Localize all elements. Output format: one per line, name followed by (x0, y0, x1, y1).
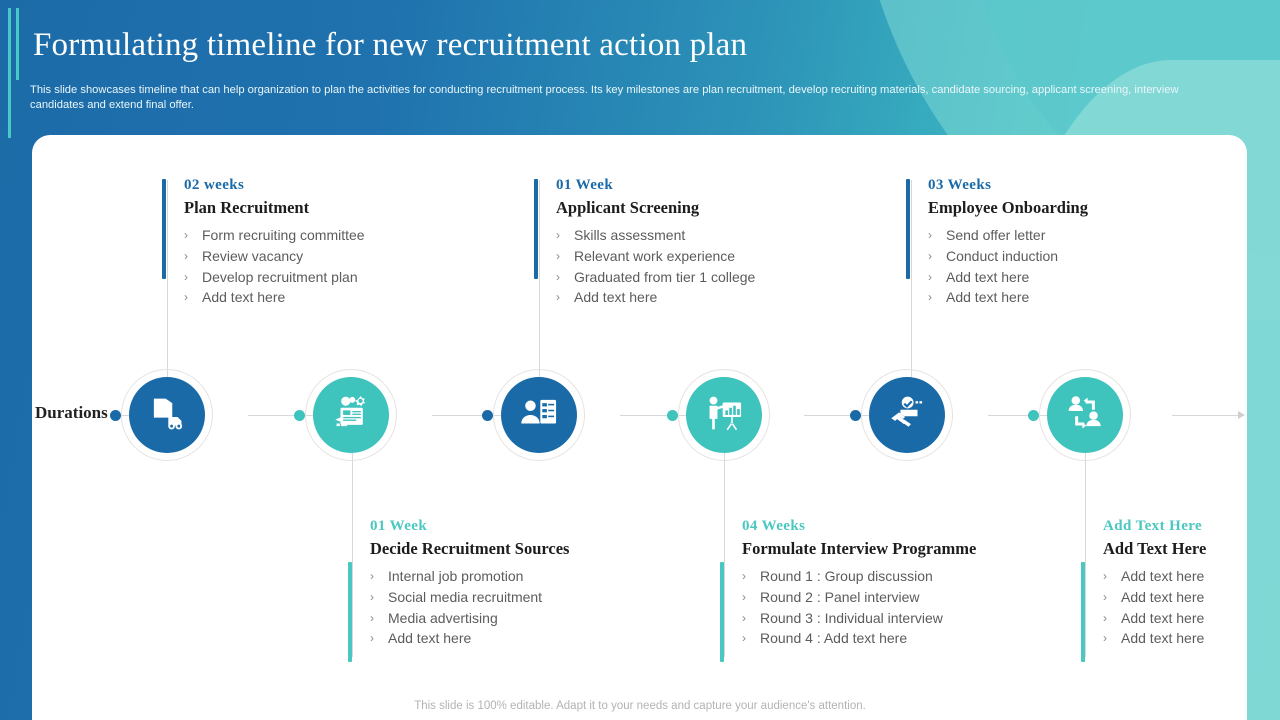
duration-label: 02 weeks (184, 177, 524, 194)
accent-bar (906, 179, 910, 279)
chevron-right-icon: › (928, 267, 946, 288)
chevron-right-icon: › (928, 287, 946, 308)
list-item-label: Review vacancy (202, 246, 303, 267)
chevron-right-icon: › (742, 566, 760, 587)
duration-label: Add Text Here (1103, 518, 1247, 535)
milestone-heading: Employee Onboarding (928, 198, 1247, 218)
handshake-approved-icon (886, 392, 928, 439)
chevron-right-icon: › (742, 608, 760, 629)
duration-label: 01 Week (556, 177, 896, 194)
node-dot (294, 410, 305, 421)
chevron-right-icon: › (556, 225, 574, 246)
list-item-label: Conduct induction (946, 246, 1058, 267)
node-dot (667, 410, 678, 421)
candidate-checklist-icon (518, 392, 560, 439)
page-title: Formulating timeline for new recruitment… (33, 27, 747, 64)
page-subtitle: This slide showcases timeline that can h… (30, 83, 1220, 112)
settings-document-icon (330, 392, 372, 439)
timeline-node-2[interactable] (305, 369, 397, 461)
accent-bar (720, 562, 724, 662)
list-item-label: Media advertising (388, 608, 498, 629)
chevron-right-icon: › (184, 267, 202, 288)
list-item-label: Develop recruitment plan (202, 267, 358, 288)
list-item: ›Internal job promotion (370, 566, 730, 587)
duration-label: 03 Weeks (928, 177, 1247, 194)
accent-bar (162, 179, 166, 279)
list-item: ›Social media recruitment (370, 587, 730, 608)
list-item: ›Add text here (928, 287, 1247, 308)
milestone-block-4: 04 Weeks Formulate Interview Programme ›… (720, 518, 1102, 649)
list-item: ›Review vacancy (184, 246, 524, 267)
chevron-right-icon: › (928, 225, 946, 246)
node-disc (129, 377, 205, 453)
chevron-right-icon: › (928, 246, 946, 267)
chevron-right-icon: › (1103, 587, 1121, 608)
list-item-label: Social media recruitment (388, 587, 542, 608)
node-disc (501, 377, 577, 453)
list-item: ›Add text here (1103, 587, 1247, 608)
timeline-axis: Durations (32, 135, 1247, 720)
timeline-node-3[interactable] (493, 369, 585, 461)
milestone-heading: Formulate Interview Programme (742, 539, 1102, 559)
chevron-right-icon: › (556, 267, 574, 288)
milestone-item-list: ›Skills assessment ›Relevant work experi… (556, 225, 896, 308)
presentation-board-icon (703, 392, 745, 439)
node-dot (850, 410, 861, 421)
chevron-right-icon: › (1103, 628, 1121, 649)
footer-note: This slide is 100% editable. Adapt it to… (0, 700, 1280, 712)
list-item-label: Add text here (1121, 608, 1204, 629)
list-item: ›Round 2 : Panel interview (742, 587, 1102, 608)
milestone-item-list: ›Round 1 : Group discussion ›Round 2 : P… (742, 566, 1102, 649)
node-dot (482, 410, 493, 421)
milestone-block-1: 02 weeks Plan Recruitment ›Form recruiti… (162, 177, 524, 308)
timeline-node-5[interactable] (861, 369, 953, 461)
list-item: ›Form recruiting committee (184, 225, 524, 246)
list-item: ›Add text here (1103, 628, 1247, 649)
list-item: ›Add text here (1103, 608, 1247, 629)
axis-label-durations: Durations (35, 403, 108, 423)
duration-label: 04 Weeks (742, 518, 1102, 535)
accent-bar (534, 179, 538, 279)
timeline-node-4[interactable] (678, 369, 770, 461)
list-item-label: Graduated from tier 1 college (574, 267, 755, 288)
node-disc (869, 377, 945, 453)
list-item-label: Add text here (946, 287, 1029, 308)
milestone-item-list: ›Internal job promotion ›Social media re… (370, 566, 730, 649)
list-item: ›Send offer letter (928, 225, 1247, 246)
milestone-block-6: Add Text Here Add Text Here ›Add text he… (1081, 518, 1247, 649)
chevron-right-icon: › (556, 246, 574, 267)
list-item: ›Relevant work experience (556, 246, 896, 267)
milestone-heading: Applicant Screening (556, 198, 896, 218)
chevron-right-icon: › (1103, 566, 1121, 587)
accent-bar (1081, 562, 1085, 662)
list-item-label: Add text here (946, 267, 1029, 288)
node-disc (1047, 377, 1123, 453)
chevron-right-icon: › (370, 628, 388, 649)
list-item: ›Add text here (1103, 566, 1247, 587)
accent-bar (348, 562, 352, 662)
list-item: ›Media advertising (370, 608, 730, 629)
chevron-right-icon: › (370, 608, 388, 629)
list-item: ›Add text here (370, 628, 730, 649)
list-item-label: Add text here (1121, 628, 1204, 649)
milestone-block-5: 03 Weeks Employee Onboarding ›Send offer… (906, 177, 1247, 308)
milestone-item-list: ›Send offer letter ›Conduct induction ›A… (928, 225, 1247, 308)
node-disc (313, 377, 389, 453)
list-item-label: Round 2 : Panel interview (760, 587, 920, 608)
milestone-item-list: ›Form recruiting committee ›Review vacan… (184, 225, 524, 308)
list-item: ›Add text here (928, 267, 1247, 288)
content-card: Durations (32, 135, 1247, 720)
list-item-label: Add text here (574, 287, 657, 308)
list-item-label: Add text here (1121, 587, 1204, 608)
list-item-label: Round 3 : Individual interview (760, 608, 943, 629)
milestone-item-list: ›Add text here ›Add text here ›Add text … (1103, 566, 1247, 649)
chevron-right-icon: › (1103, 608, 1121, 629)
timeline-node-6[interactable] (1039, 369, 1131, 461)
chevron-right-icon: › (370, 566, 388, 587)
list-item: ›Round 3 : Individual interview (742, 608, 1102, 629)
connector-arrow-end (1238, 411, 1245, 419)
milestone-heading: Add Text Here (1103, 539, 1247, 559)
chevron-right-icon: › (556, 287, 574, 308)
list-item: ›Round 1 : Group discussion (742, 566, 1102, 587)
list-item-label: Add text here (388, 628, 471, 649)
node-dot (110, 410, 121, 421)
list-item-label: Send offer letter (946, 225, 1045, 246)
list-item-label: Skills assessment (574, 225, 685, 246)
node-dot (1028, 410, 1039, 421)
factory-truck-icon (146, 392, 188, 439)
list-item-label: Relevant work experience (574, 246, 735, 267)
milestone-block-2: 01 Week Decide Recruitment Sources ›Inte… (348, 518, 730, 649)
list-item: ›Round 4 : Add text here (742, 628, 1102, 649)
chevron-right-icon: › (184, 225, 202, 246)
accent-strip-outer (8, 8, 11, 138)
list-item-label: Add text here (1121, 566, 1204, 587)
chevron-right-icon: › (370, 587, 388, 608)
list-item: ›Conduct induction (928, 246, 1247, 267)
timeline-node-1[interactable] (121, 369, 213, 461)
people-workflow-icon (1064, 392, 1106, 439)
accent-strip-inner (16, 8, 19, 80)
chevron-right-icon: › (742, 587, 760, 608)
list-item-label: Round 4 : Add text here (760, 628, 907, 649)
chevron-right-icon: › (184, 287, 202, 308)
milestone-block-3: 01 Week Applicant Screening ›Skills asse… (534, 177, 896, 308)
list-item-label: Round 1 : Group discussion (760, 566, 933, 587)
connector-segment-end (1172, 415, 1240, 416)
list-item: ›Add text here (556, 287, 896, 308)
list-item: ›Add text here (184, 287, 524, 308)
list-item-label: Form recruiting committee (202, 225, 365, 246)
chevron-right-icon: › (742, 628, 760, 649)
list-item-label: Add text here (202, 287, 285, 308)
slide-root: Formulating timeline for new recruitment… (0, 0, 1280, 720)
node-disc (686, 377, 762, 453)
milestone-heading: Decide Recruitment Sources (370, 539, 730, 559)
list-item: ›Skills assessment (556, 225, 896, 246)
list-item: ›Graduated from tier 1 college (556, 267, 896, 288)
milestone-heading: Plan Recruitment (184, 198, 524, 218)
duration-label: 01 Week (370, 518, 730, 535)
chevron-right-icon: › (184, 246, 202, 267)
list-item-label: Internal job promotion (388, 566, 523, 587)
list-item: ›Develop recruitment plan (184, 267, 524, 288)
